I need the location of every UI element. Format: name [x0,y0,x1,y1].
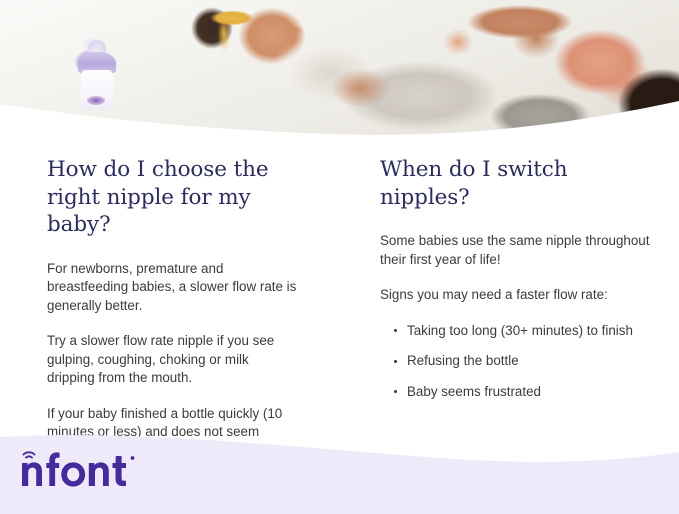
signal-arcs-icon [24,452,35,457]
paragraph-slower-flow-signs: Try a slower flow rate nipple if you see… [47,332,300,388]
nfant-logo-mark: nfant [20,446,160,492]
paragraph-newborn-flow: For newborns, premature and breastfeedin… [47,260,300,316]
registered-trademark-icon [131,456,135,460]
content-area: How do I choose the right nipple for my … [0,146,679,436]
column-switch-nipples: When do I switch nipples? Some babies us… [340,146,679,436]
brand-name-text: nfant [144,459,145,460]
list-item: Baby seems frustrated [380,383,661,402]
hero-banner: Baby with yellow headband lying on white… [0,0,679,146]
nfant-logo[interactable]: nfant [20,446,160,492]
paragraph-same-nipple: Some babies use the same nipple througho… [380,232,661,269]
list-item: Refusing the bottle [380,352,661,371]
heading-switch-nipples: When do I switch nipples? [380,156,661,211]
heading-choose-nipple: How do I choose the right nipple for my … [47,156,300,239]
page-root: Baby with yellow headband lying on white… [0,0,679,514]
paragraph-faster-flow-signs: Signs you may need a faster flow rate: [380,286,661,305]
hero-wave-divider [0,87,679,146]
faster-flow-signs-list: Taking too long (30+ minutes) to finish … [380,322,661,402]
column-choose-nipple: How do I choose the right nipple for my … [0,146,340,436]
list-item: Taking too long (30+ minutes) to finish [380,322,661,341]
nfant-wordmark [22,452,126,486]
footer-band: nfant [0,424,679,514]
